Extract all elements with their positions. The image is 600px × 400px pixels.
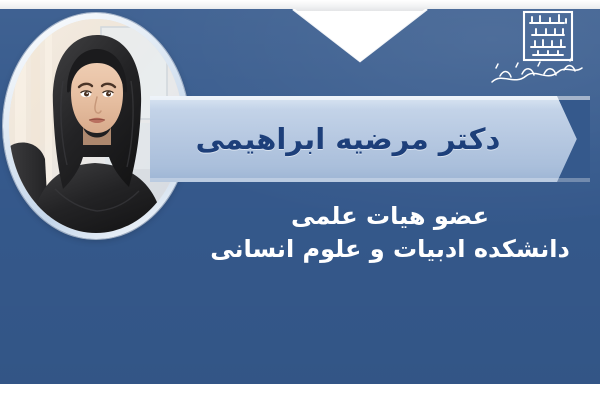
person-role: عضو هیات علمی — [190, 200, 590, 233]
person-faculty: دانشکده ادبیات و علوم انسانی — [190, 233, 590, 266]
person-affiliation: عضو هیات علمی دانشکده ادبیات و علوم انسا… — [190, 200, 590, 266]
university-logo — [480, 8, 588, 94]
person-name: دکتر مرضیه ابراهیمی — [150, 96, 546, 182]
faculty-announcement-card: دکتر مرضیه ابراهیمی عضو هیات علمی دانشکد… — [0, 0, 600, 400]
